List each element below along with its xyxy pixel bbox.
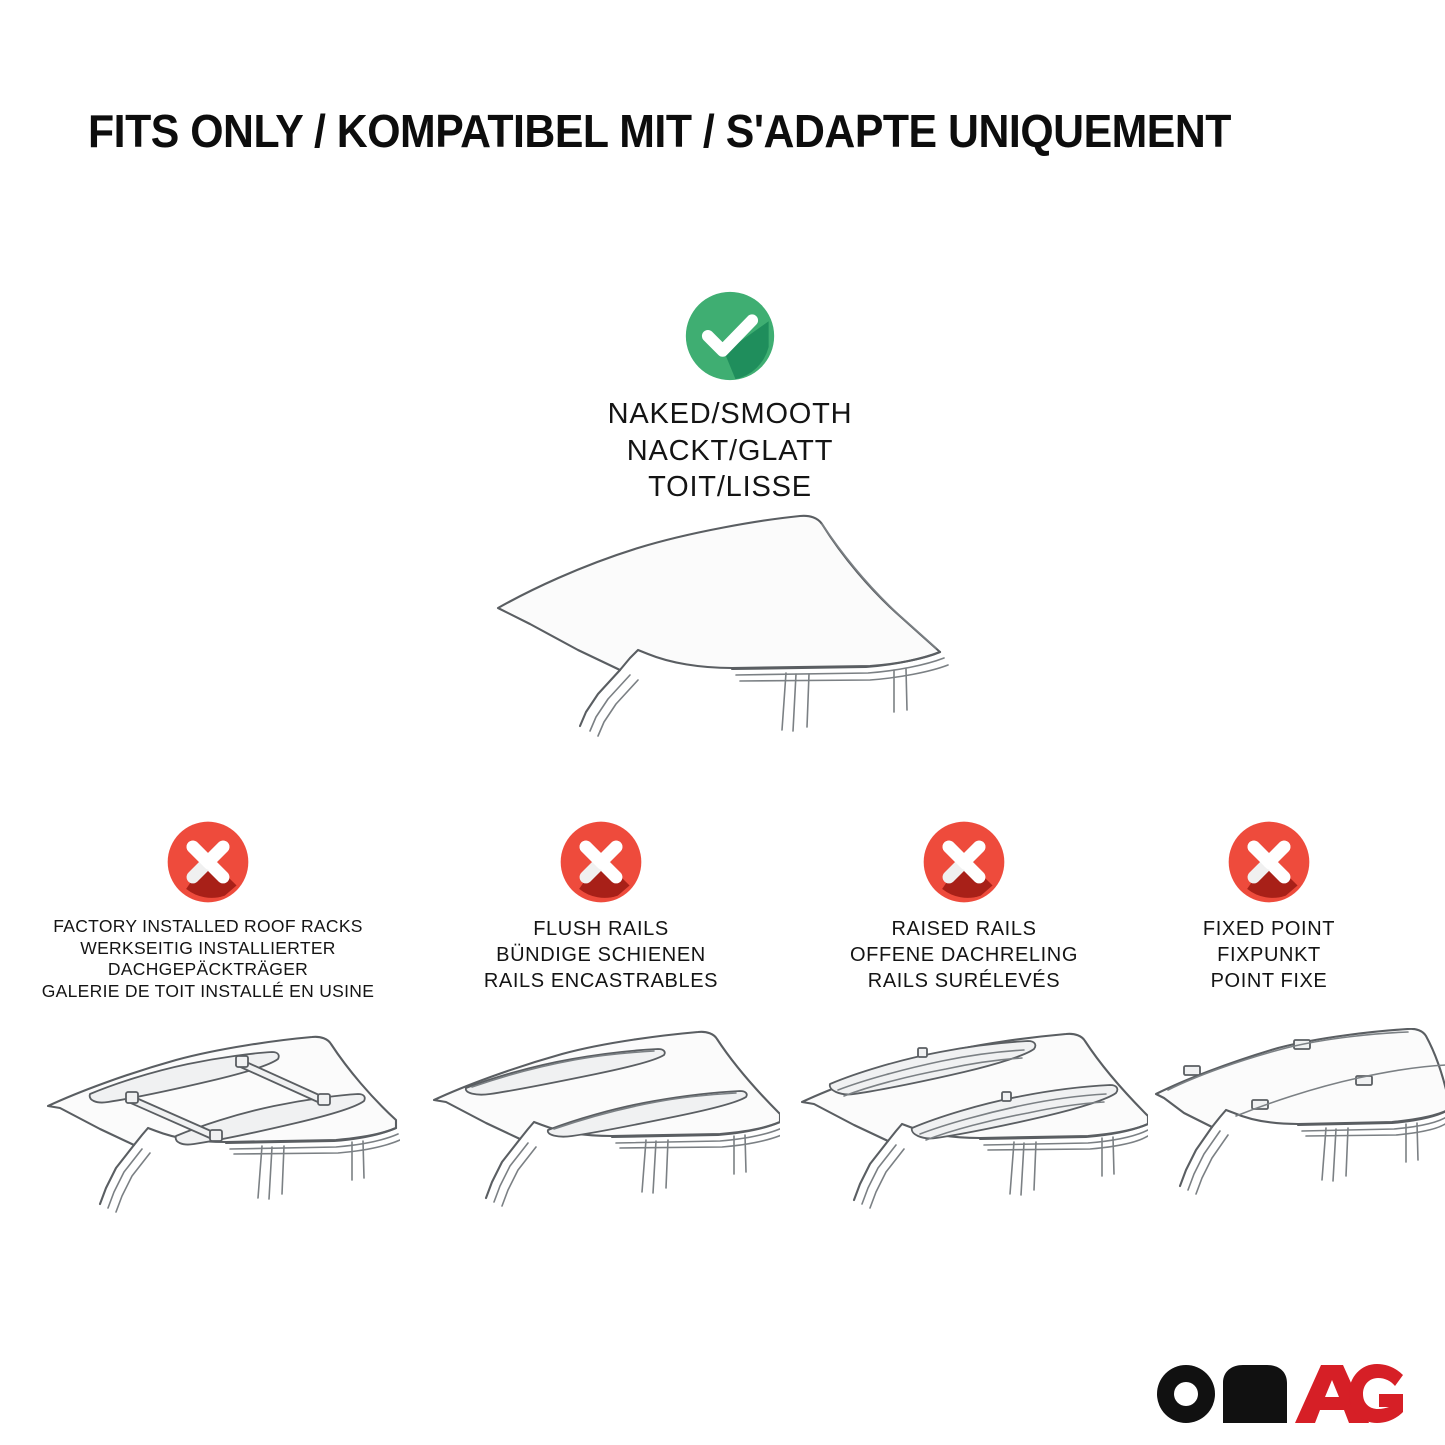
car-roof-naked-smooth-illustration: [470, 498, 990, 758]
compatible-labels: NAKED/SMOOTH NACKT/GLATT TOIT/LISSE: [480, 396, 980, 506]
incompatible-label-en: FLUSH RAILS: [412, 916, 790, 942]
incompatible-labels: FLUSH RAILS BÜNDIGE SCHIENEN RAILS ENCAS…: [412, 916, 790, 994]
incompatible-label-de: BÜNDIGE SCHIENEN: [412, 942, 790, 968]
incompatible-label-de-1: WERKSEITIG INSTALLIERTER: [8, 938, 408, 960]
incompatible-roof-type-raised-rails: RAISED RAILS OFFENE DACHRELING RAILS SUR…: [790, 820, 1138, 994]
incompatible-label-fr: GALERIE DE TOIT INSTALLÉ EN USINE: [8, 981, 408, 1003]
incompatible-label-de: OFFENE DACHRELING: [790, 942, 1138, 968]
incompatible-roof-type-flush-rails: FLUSH RAILS BÜNDIGE SCHIENEN RAILS ENCAS…: [412, 820, 790, 994]
compatible-label-en: NAKED/SMOOTH: [480, 396, 980, 433]
incompatible-label-en: FIXED POINT: [1128, 916, 1410, 942]
check-circle-icon: [684, 290, 776, 382]
incompatible-roof-type-factory-roof-racks: FACTORY INSTALLED ROOF RACKS WERKSEITIG …: [8, 820, 408, 1003]
compatible-roof-type: NAKED/SMOOTH NACKT/GLATT TOIT/LISSE: [480, 290, 980, 506]
car-roof-factory-racks-illustration: [30, 1028, 400, 1243]
omac-logo: [1153, 1361, 1403, 1423]
incompatible-labels: RAISED RAILS OFFENE DACHRELING RAILS SUR…: [790, 916, 1138, 994]
incompatible-label-en: FACTORY INSTALLED ROOF RACKS: [8, 916, 408, 938]
car-roof-fixed-point-illustration: [1148, 1028, 1445, 1243]
incompatible-label-en: RAISED RAILS: [790, 916, 1138, 942]
incompatible-label-de-2: DACHGEPÄCKTRÄGER: [8, 959, 408, 981]
car-roof-flush-rails-illustration: [420, 1028, 780, 1243]
cross-circle-icon: [1227, 820, 1311, 904]
cross-circle-icon: [166, 820, 250, 904]
incompatible-label-fr: POINT FIXE: [1128, 968, 1410, 994]
incompatible-labels: FACTORY INSTALLED ROOF RACKS WERKSEITIG …: [8, 916, 408, 1003]
page-title: FITS ONLY / KOMPATIBEL MIT / S'ADAPTE UN…: [88, 108, 1288, 154]
cross-circle-icon: [922, 820, 1006, 904]
incompatible-roof-type-fixed-point: FIXED POINT FIXPUNKT POINT FIXE: [1128, 820, 1410, 994]
cross-circle-icon: [559, 820, 643, 904]
car-roof-raised-rails-illustration: [790, 1028, 1148, 1243]
incompatible-label-fr: RAILS SURÉLEVÉS: [790, 968, 1138, 994]
incompatible-label-de: FIXPUNKT: [1128, 942, 1410, 968]
incompatible-label-fr: RAILS ENCASTRABLES: [412, 968, 790, 994]
compatible-label-de: NACKT/GLATT: [480, 433, 980, 470]
incompatible-labels: FIXED POINT FIXPUNKT POINT FIXE: [1128, 916, 1410, 994]
